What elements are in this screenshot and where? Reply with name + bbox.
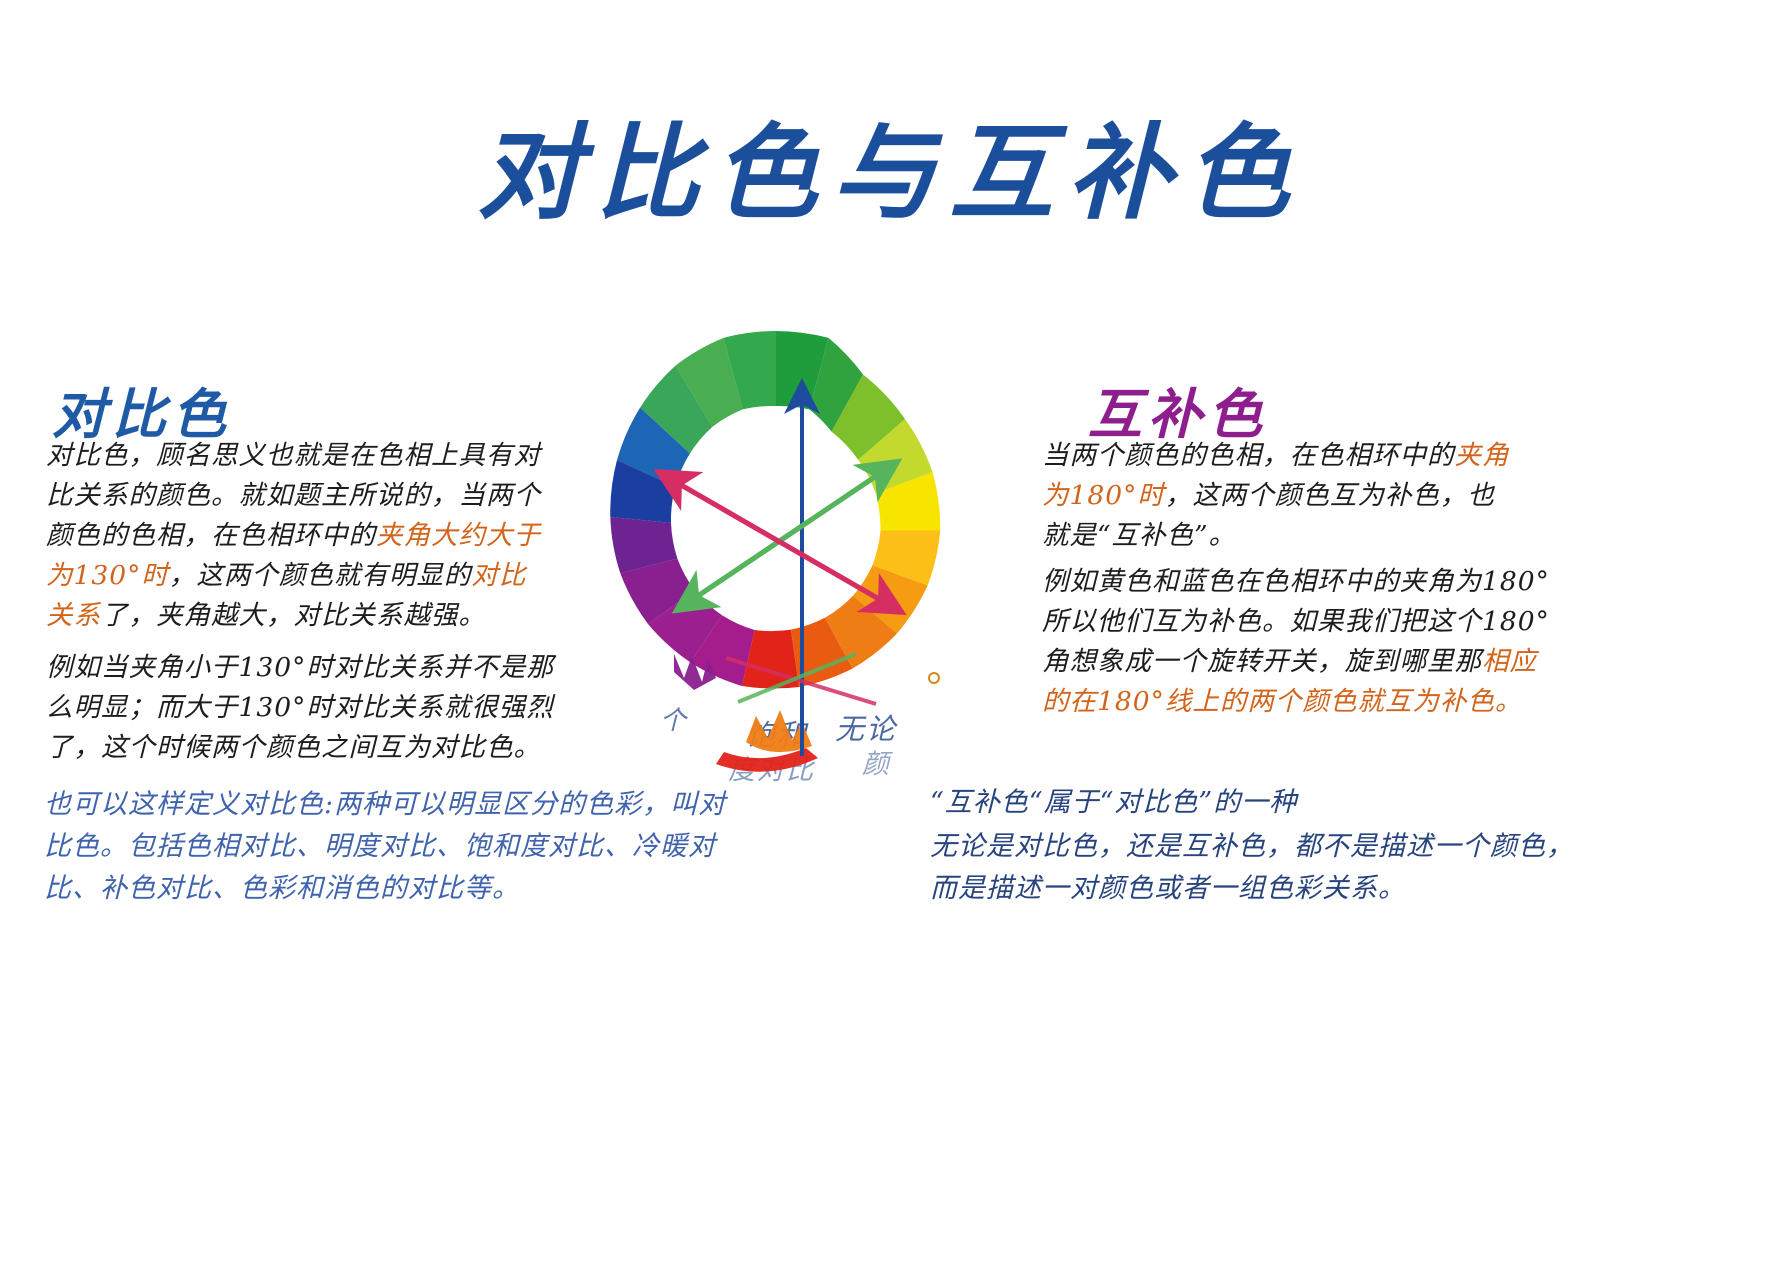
infographic-canvas: 对比色与互补色 对比色 对比色，顾名思义也就是在色相上具有对比关系的颜色。就如题… [0, 0, 1781, 1280]
right-paragraph-2: 例如黄色和蓝色在色相环中的夹角为180°所以他们互为补色。如果我们把这个180°… [1042, 562, 1562, 722]
right-paragraph-1: 当两个颜色的色相，在色相环中的夹角为180°时，这两个颜色互为补色，也就是“互补… [1042, 436, 1522, 556]
color-wheel-figure [556, 286, 996, 786]
left-paragraph-2: 例如当夹角小于130°时对比关系并不是那么明显；而大于130°时对比关系就很强烈… [46, 648, 566, 768]
left-p1-text-b: ，这两个颜色就有明显的 [169, 560, 472, 591]
left-paragraph-1: 对比色，顾名思义也就是在色相上具有对比关系的颜色。就如题主所说的，当两个颜色的色… [46, 436, 551, 636]
right-handwritten-note-2: 无论是对比色，还是互补色，都不是描述一个颜色，而是描述一对颜色或者一组色彩关系。 [930, 826, 1590, 910]
color-wheel-svg [556, 286, 996, 786]
wheel-segments [610, 331, 940, 689]
wheel-dot-artifact [929, 673, 939, 683]
left-handwritten-note: 也可以这样定义对比色:两种可以明显区分的色彩，叫对比色。包括色相对比、明度对比、… [44, 784, 744, 910]
page-title: 对比色与互补色 [0, 118, 1781, 227]
pink-diagonal-arrow-head-up [662, 474, 898, 610]
right-handwritten-note-1: “互补色“属于“对比色”的一种 [930, 782, 1570, 824]
left-p1-text-c: 了，夹角越大，对比关系越强。 [101, 600, 486, 631]
right-p2-text-a: 例如黄色和蓝色在色相环中的夹角为180°所以他们互为补色。如果我们把这个180°… [1042, 566, 1550, 677]
right-p1-text-a: 当两个颜色的色相，在色相环中的 [1042, 440, 1455, 471]
